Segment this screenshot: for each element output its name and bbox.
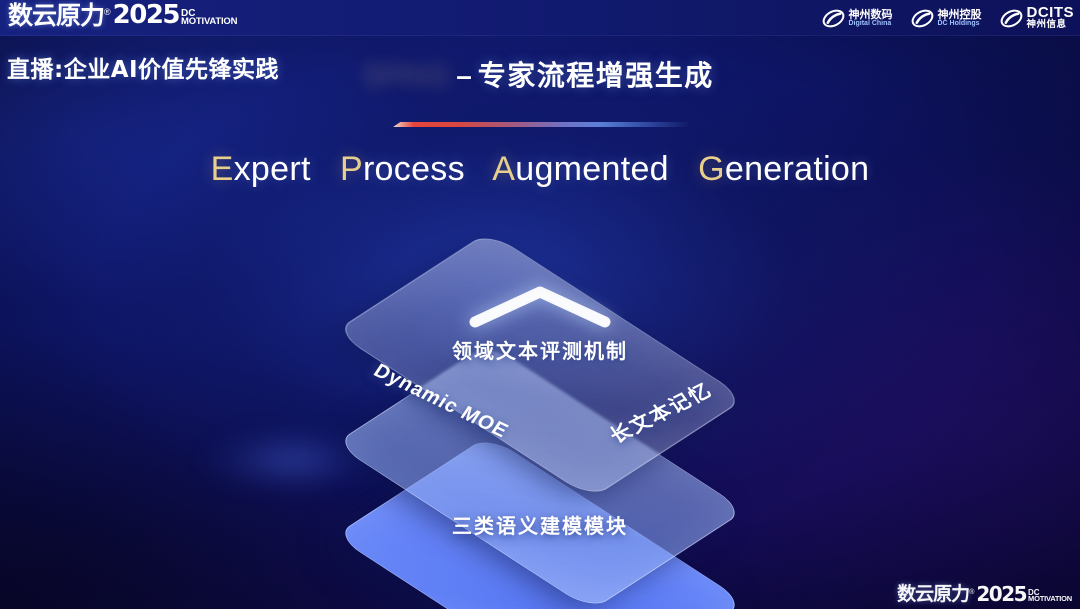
partner-name-cn: 神州数码 — [849, 9, 893, 20]
brand-logo: 数云原力 ® 2025 DC MOTIVATION — [8, 2, 237, 28]
subtitle-cap: P — [340, 150, 363, 188]
subtitle-space — [475, 150, 485, 188]
subtitle-word-generation: Generation — [698, 150, 869, 188]
swoosh-logo-icon — [1000, 7, 1023, 30]
subtitle-word-expert: Expert — [211, 150, 311, 188]
brand-dc-motivation: DC MOTIVATION — [181, 9, 237, 27]
partner-name-en: DC Holdings — [938, 20, 982, 27]
layered-architecture-diagram: 领域文本评测机制 Dynamic MOE 长文本记忆 三类语义建模模块 — [250, 205, 830, 585]
watermark-name-cn: 数云原力 — [897, 585, 969, 604]
title-divider — [393, 122, 688, 127]
partner-label: DCITS 神州信息 — [1027, 5, 1075, 30]
subtitle-rest: eneration — [725, 150, 869, 188]
subtitle-rest: xpert — [234, 150, 311, 188]
brand-watermark: 数云原力 ® 2025 DC MOTIVATION — [897, 584, 1072, 604]
chevron-up-icon — [465, 280, 615, 332]
subtitle-word-process: Process — [340, 150, 465, 188]
subtitle-word-augmented: Augmented — [492, 150, 669, 188]
swoosh-logo-icon — [911, 7, 934, 30]
partner-logo-digital-china: 神州数码 Digital China — [822, 7, 893, 30]
partner-name-cn: 神州信息 — [1027, 20, 1075, 30]
subtitle-cap: A — [492, 150, 515, 188]
partner-name-cn: 神州控股 — [938, 9, 982, 20]
partner-label: 神州控股 DC Holdings — [938, 9, 982, 27]
swoosh-logo-icon — [822, 7, 845, 30]
subtitle-cap: E — [211, 150, 234, 188]
live-broadcast-title: 直播:企业AI价值先锋实践 — [7, 50, 279, 84]
partner-label: 神州数码 Digital China — [849, 9, 893, 27]
subtitle-rest: ugmented — [515, 150, 669, 188]
watermark-motivation-label: MOTIVATION — [1028, 596, 1072, 603]
brand-motivation-label: MOTIVATION — [181, 18, 237, 27]
watermark-registered-mark: ® — [969, 589, 974, 596]
partner-name-en: Digital China — [849, 20, 893, 27]
divider-bar — [393, 122, 688, 127]
watermark-year: 2025 — [976, 584, 1026, 604]
watermark-dc-motivation: DC MOTIVATION — [1028, 589, 1072, 603]
subtitle-space — [679, 150, 689, 188]
title-chinese: 专家流程增强生成 — [478, 59, 714, 92]
partner-logo-group: 神州数码 Digital China 神州控股 DC Holdings — [822, 4, 1075, 32]
title-acronym: EPAG — [366, 60, 450, 92]
subtitle-cap: G — [698, 150, 725, 188]
slide-canvas: 数云原力 ® 2025 DC MOTIVATION 直播:企业AI价值先锋实践 … — [0, 0, 1080, 609]
subtitle-space — [320, 150, 330, 188]
partner-logo-dcits: DCITS 神州信息 — [1000, 5, 1075, 30]
brand-name-cn: 数云原力 — [8, 3, 104, 28]
subtitle: Expert Process Augmented Generation — [0, 150, 1080, 189]
subtitle-rest: rocess — [363, 150, 465, 188]
brand-year: 2025 — [113, 2, 179, 28]
brand-registered-mark: ® — [104, 7, 111, 17]
partner-logo-dc-holdings: 神州控股 DC Holdings — [911, 7, 982, 30]
title-dash: – — [456, 60, 472, 91]
